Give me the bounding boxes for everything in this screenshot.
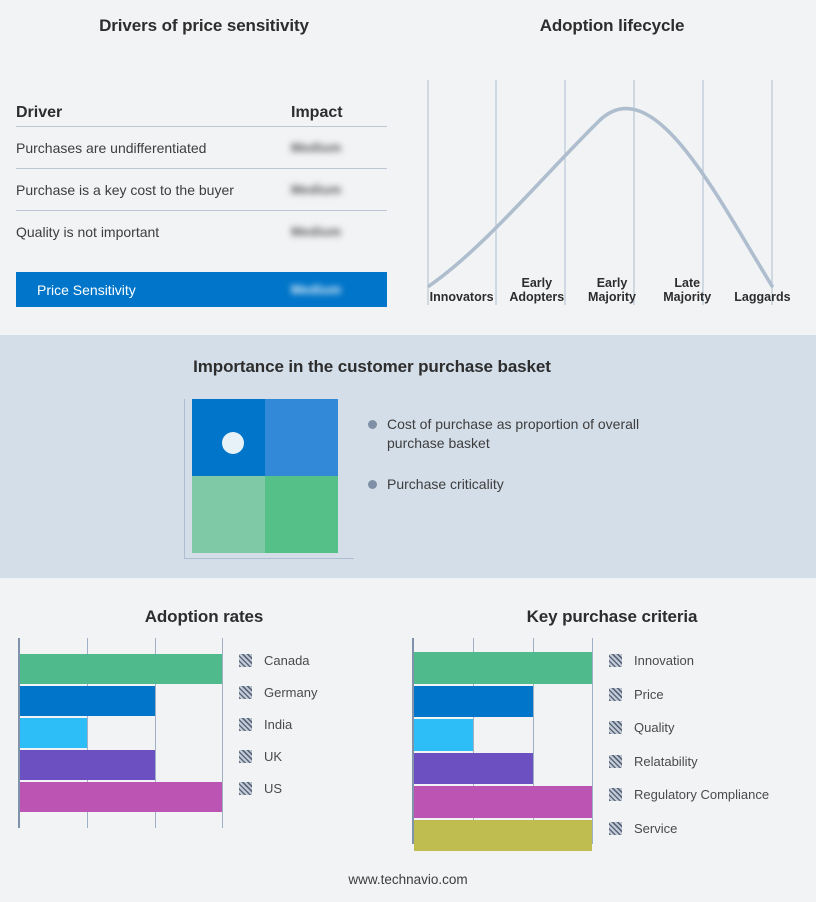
legend-swatch-icon	[609, 654, 622, 667]
basket-title: Importance in the customer purchase bask…	[0, 357, 744, 377]
adoption-rates-legend: CanadaGermanyIndiaUKUS	[239, 644, 389, 804]
quadrant-x-axis	[184, 558, 354, 559]
legend-label: India	[264, 717, 292, 732]
bar	[20, 654, 222, 684]
stage-line-1: Early	[522, 276, 553, 290]
bullet-icon	[368, 480, 377, 489]
lifecycle-stage-innovators: Innovators	[424, 80, 499, 310]
lifecycle-stage-labels: Innovators Early Adopters Early Majority…	[424, 80, 800, 310]
legend-swatch-icon	[239, 718, 252, 731]
bar	[20, 782, 222, 812]
legend-item: Purchase criticality	[368, 475, 668, 494]
bars-layer	[20, 638, 228, 828]
legend-swatch-icon	[609, 721, 622, 734]
bar	[414, 652, 592, 684]
legend-label: Relatability	[634, 754, 698, 769]
driver-label: Purchases are undifferentiated	[16, 140, 291, 156]
quadrant-cell-bottom-left	[192, 476, 265, 553]
quadrant-chart	[184, 399, 344, 559]
legend-item: Service	[609, 812, 804, 846]
adoption-rates-panel: Adoption rates CanadaGermanyIndiaUKUS	[0, 578, 408, 902]
stage-line-2: Innovators	[430, 290, 494, 304]
legend-label: Canada	[264, 653, 310, 668]
legend-swatch-icon	[239, 782, 252, 795]
driver-label: Quality is not important	[16, 224, 291, 240]
bar	[20, 750, 155, 780]
table-row: Quality is not important Medium	[16, 211, 387, 252]
legend-item: Cost of purchase as proportion of overal…	[368, 415, 668, 453]
bar	[414, 786, 592, 818]
quadrant-cell-bottom-right	[265, 476, 338, 553]
lifecycle-stage-laggards: Laggards	[725, 80, 800, 310]
legend-swatch-icon	[609, 688, 622, 701]
legend-item: Relatability	[609, 745, 804, 779]
drivers-panel: Drivers of price sensitivity Driver Impa…	[0, 0, 408, 335]
lifecycle-stage-early-adopters: Early Adopters	[499, 80, 574, 310]
adoption-rates-chart	[18, 638, 228, 828]
driver-label: Price Sensitivity	[16, 282, 291, 298]
legend-swatch-icon	[239, 654, 252, 667]
key-purchase-criteria-chart	[412, 638, 594, 844]
quadrant-position-marker	[222, 432, 244, 454]
lifecycle-stage-early-majority: Early Majority	[574, 80, 649, 310]
legend-label: Regulatory Compliance	[634, 787, 769, 802]
legend-swatch-icon	[609, 788, 622, 801]
legend-item: Price	[609, 678, 804, 712]
legend-item: US	[239, 772, 389, 804]
legend-label: Cost of purchase as proportion of overal…	[387, 415, 642, 453]
bar	[414, 753, 533, 785]
bar	[414, 686, 533, 718]
stage-line-1: Early	[597, 276, 628, 290]
legend-swatch-icon	[239, 750, 252, 763]
stage-line-2: Majority	[588, 290, 636, 304]
key-purchase-criteria-panel: Key purchase criteria InnovationPriceQua…	[408, 578, 816, 902]
impact-value: Medium	[291, 182, 387, 197]
table-row: Purchases are undifferentiated Medium	[16, 127, 387, 169]
stage-line-2: Majority	[663, 290, 711, 304]
legend-swatch-icon	[609, 755, 622, 768]
key-purchase-criteria-title: Key purchase criteria	[408, 607, 816, 627]
adoption-lifecycle-panel: Adoption lifecycle Innovators Early Adop…	[408, 0, 816, 335]
basket-legend: Cost of purchase as proportion of overal…	[368, 415, 668, 516]
legend-item: Germany	[239, 676, 389, 708]
adoption-rates-title: Adoption rates	[0, 607, 408, 627]
bullet-icon	[368, 420, 377, 429]
legend-item: Canada	[239, 644, 389, 676]
legend-label: Innovation	[634, 653, 694, 668]
lifecycle-title: Adoption lifecycle	[408, 16, 816, 36]
table-row: Purchase is a key cost to the buyer Medi…	[16, 169, 387, 211]
drivers-title: Drivers of price sensitivity	[0, 16, 408, 36]
quadrant-cells	[192, 399, 338, 553]
column-header-impact: Impact	[291, 104, 387, 122]
stage-line-2: Adopters	[509, 290, 564, 304]
footer-url: www.technavio.com	[0, 872, 816, 887]
legend-swatch-icon	[239, 686, 252, 699]
quadrant-y-axis	[184, 399, 185, 559]
lifecycle-chart: Innovators Early Adopters Early Majority…	[424, 80, 800, 310]
bar	[20, 686, 155, 716]
driver-label: Purchase is a key cost to the buyer	[16, 182, 291, 198]
legend-swatch-icon	[609, 822, 622, 835]
impact-value: Medium	[291, 224, 387, 239]
stage-line-1: Late	[674, 276, 700, 290]
impact-value: Medium	[291, 282, 387, 297]
legend-label: UK	[264, 749, 282, 764]
lifecycle-stage-late-majority: Late Majority	[650, 80, 725, 310]
legend-label: Price	[634, 687, 664, 702]
legend-item: India	[239, 708, 389, 740]
bar	[414, 820, 592, 852]
key-purchase-criteria-legend: InnovationPriceQualityRelatabilityRegula…	[609, 644, 804, 845]
legend-item: Innovation	[609, 644, 804, 678]
stage-line-2: Laggards	[734, 290, 790, 304]
price-sensitivity-row: Price Sensitivity Medium	[16, 272, 387, 307]
legend-item: Quality	[609, 711, 804, 745]
legend-label: Purchase criticality	[387, 475, 504, 494]
legend-label: Service	[634, 821, 677, 836]
bars-layer	[414, 638, 594, 844]
legend-item: UK	[239, 740, 389, 772]
column-header-driver: Driver	[16, 104, 291, 122]
legend-label: Germany	[264, 685, 317, 700]
bar	[20, 718, 87, 748]
legend-label: Quality	[634, 720, 674, 735]
bar	[414, 719, 473, 751]
table-header-row: Driver Impact	[16, 92, 387, 127]
legend-item: Regulatory Compliance	[609, 778, 804, 812]
purchase-basket-panel: Importance in the customer purchase bask…	[0, 335, 816, 578]
quadrant-cell-top-right	[265, 399, 338, 476]
legend-label: US	[264, 781, 282, 796]
drivers-table: Driver Impact Purchases are undifferenti…	[16, 92, 387, 252]
impact-value: Medium	[291, 140, 387, 155]
